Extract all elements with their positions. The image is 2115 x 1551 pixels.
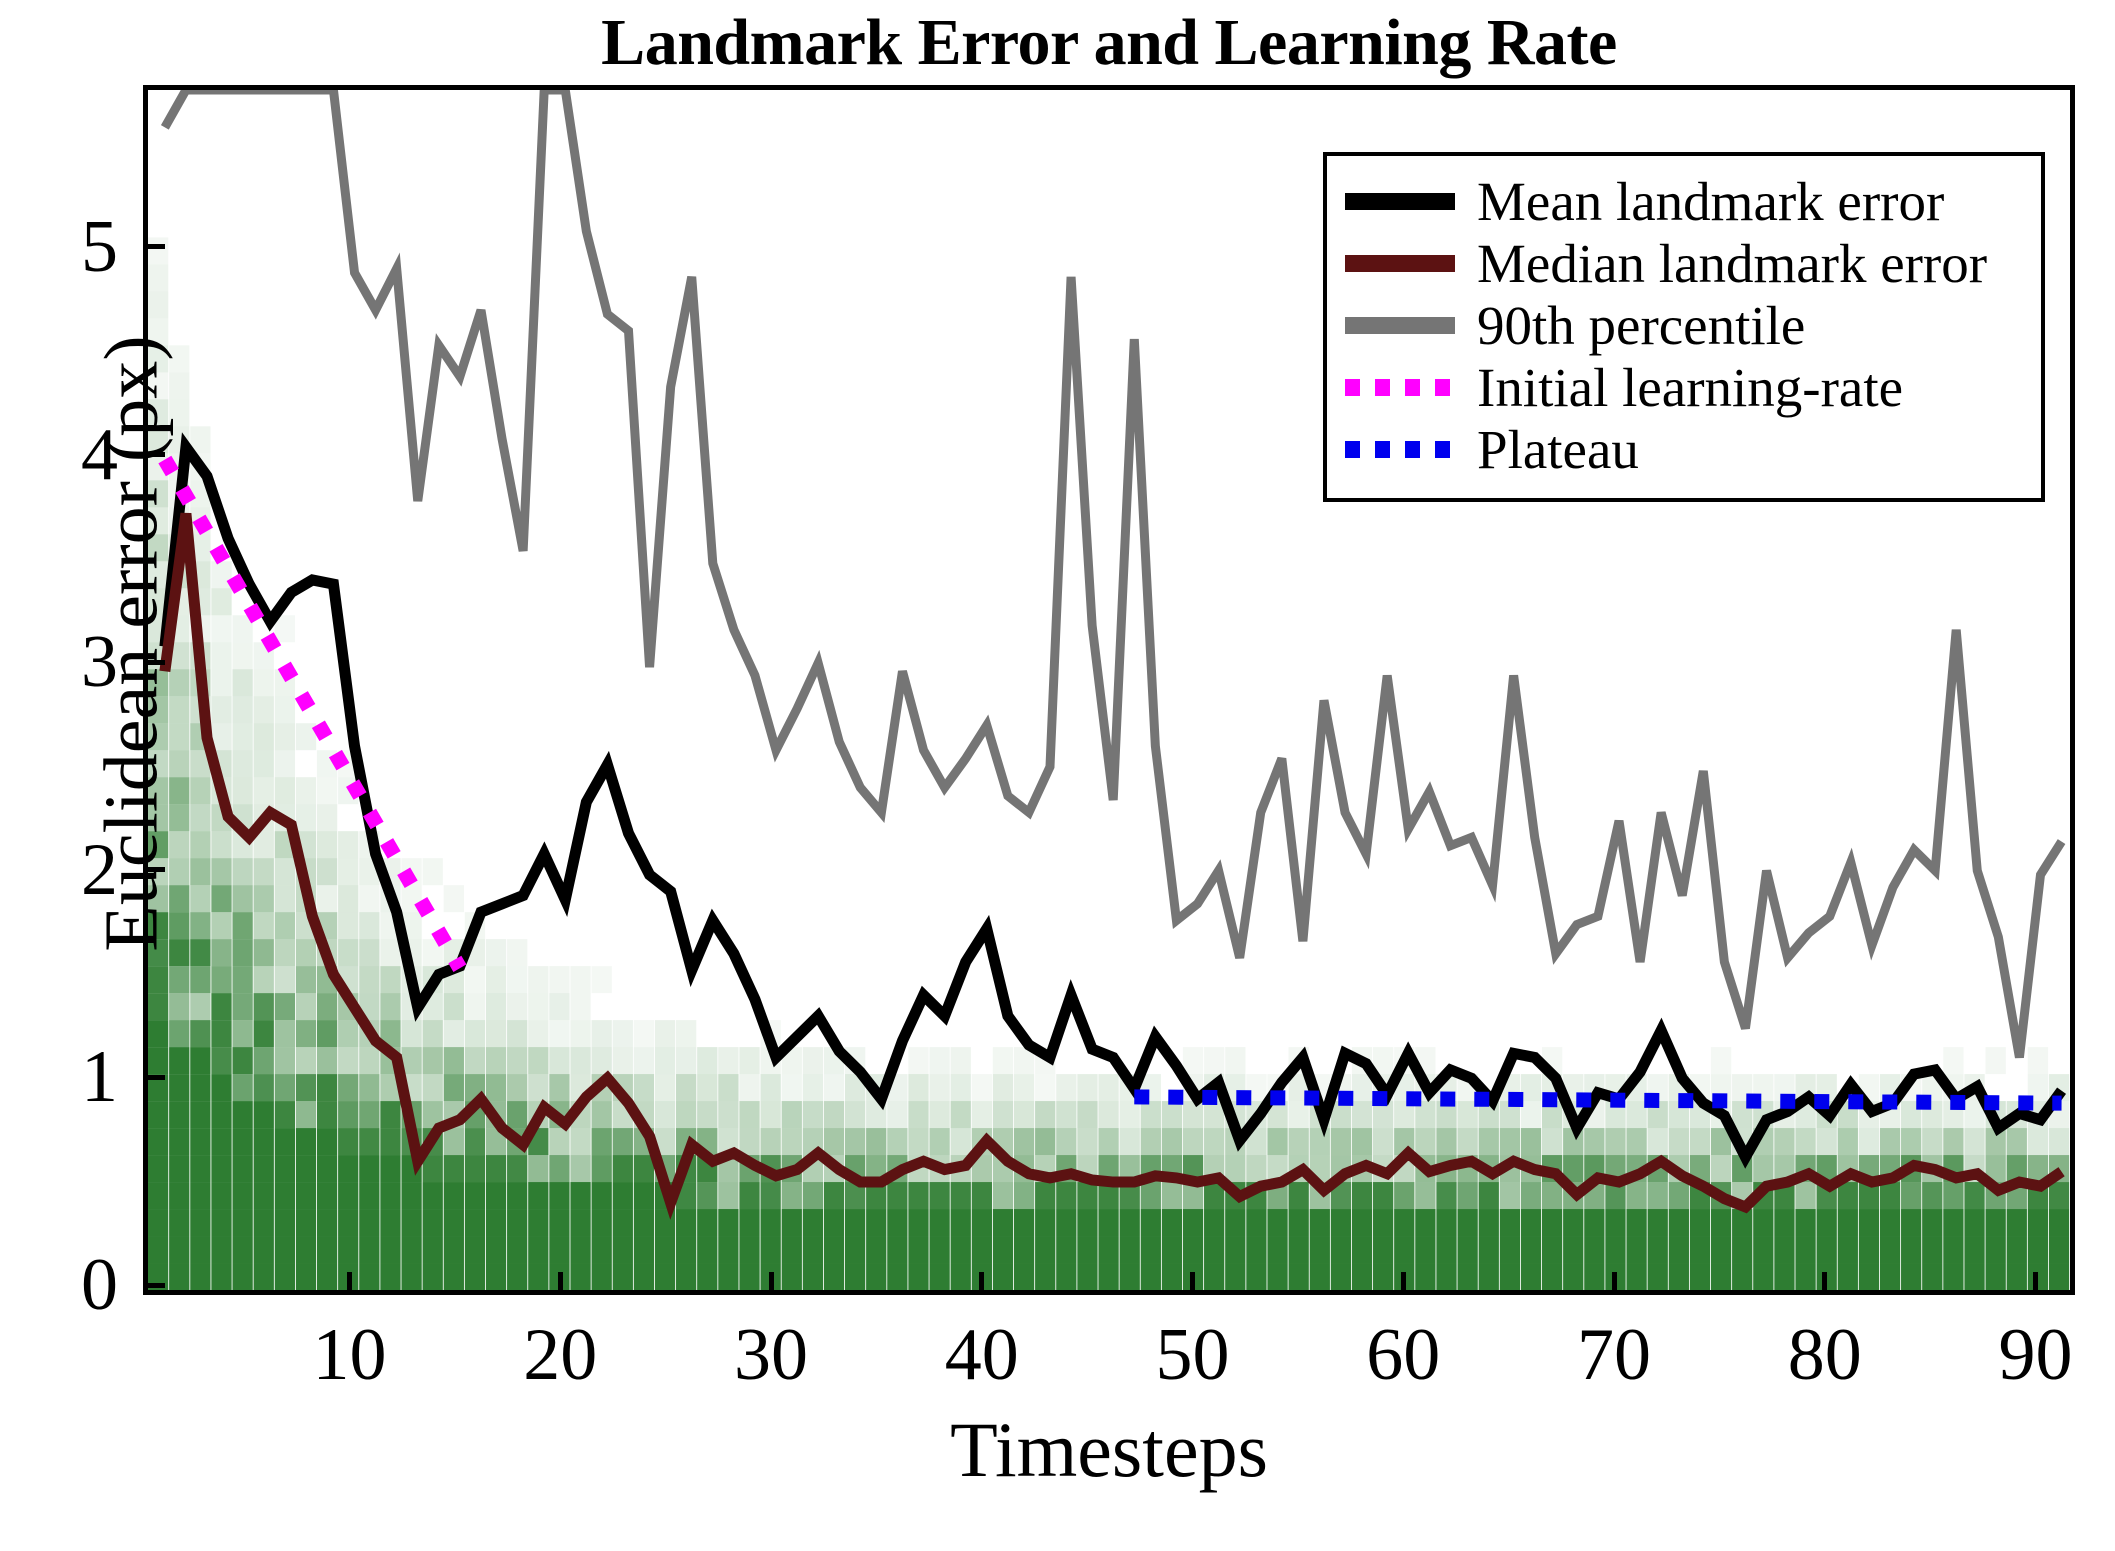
x-tick-mark: [1190, 1272, 1195, 1295]
x-tick-label: 10: [313, 1318, 387, 1392]
density-cell: [613, 1182, 633, 1209]
density-cell: [190, 966, 210, 993]
legend-item[interactable]: Plateau: [1327, 418, 2041, 480]
x-tick-mark: [1401, 1272, 1406, 1295]
x-tick-label: 90: [1998, 1318, 2072, 1392]
density-cell: [211, 1209, 231, 1236]
density-cell: [401, 1182, 421, 1209]
density-cell: [1415, 1128, 1435, 1155]
density-cell: [507, 966, 527, 993]
density-cell: [1077, 1182, 1097, 1209]
density-cell: [1500, 1128, 1520, 1155]
density-cell: [275, 750, 295, 777]
density-cell: [190, 993, 210, 1020]
density-cell: [1605, 1236, 1625, 1263]
density-cell: [1246, 1236, 1266, 1263]
density-cell: [993, 1263, 1013, 1290]
density-cell: [824, 1263, 844, 1290]
density-cell: [1204, 1047, 1224, 1074]
density-cell: [1077, 1101, 1097, 1128]
density-cell: [1732, 1263, 1752, 1290]
density-cell: [908, 1263, 928, 1290]
legend-label: Plateau: [1477, 422, 1639, 477]
density-cell: [380, 1182, 400, 1209]
density-cell: [951, 1263, 971, 1290]
density-cell: [296, 939, 316, 966]
density-cell: [782, 1263, 802, 1290]
density-cell: [1795, 1236, 1815, 1263]
density-cell: [359, 1101, 379, 1128]
density-cell: [423, 1020, 443, 1047]
density-cell: [1246, 1263, 1266, 1290]
density-cell: [232, 1101, 252, 1128]
density-cell: [296, 1074, 316, 1101]
density-cell: [697, 1074, 717, 1101]
density-cell: [993, 1074, 1013, 1101]
density-cell: [254, 723, 274, 750]
density-cell: [613, 1128, 633, 1155]
density-cell: [317, 1236, 337, 1263]
density-cell: [1626, 1209, 1646, 1236]
density-cell: [401, 1020, 421, 1047]
density-cell: [929, 1236, 949, 1263]
density-cell: [338, 858, 358, 885]
density-cell: [507, 1182, 527, 1209]
density-cell: [296, 1047, 316, 1074]
density-cell: [634, 1074, 654, 1101]
density-cell: [718, 1209, 738, 1236]
density-cell: [1774, 1209, 1794, 1236]
density-cell: [359, 1047, 379, 1074]
density-cell: [486, 1263, 506, 1290]
density-cell: [1542, 1263, 1562, 1290]
density-cell: [803, 1047, 823, 1074]
density-cell: [803, 1074, 823, 1101]
density-cell: [1648, 1263, 1668, 1290]
density-cell: [782, 1128, 802, 1155]
density-cell: [232, 993, 252, 1020]
density-cell: [254, 777, 274, 804]
density-cell: [465, 1020, 485, 1047]
density-cell: [908, 1236, 928, 1263]
density-cell: [761, 1101, 781, 1128]
density-cell: [444, 1074, 464, 1101]
density-cell: [380, 1101, 400, 1128]
density-cell: [232, 642, 252, 669]
density-cell: [528, 1209, 548, 1236]
density-cell: [1838, 1128, 1858, 1155]
density-cell: [2049, 1209, 2069, 1236]
density-cell: [634, 1182, 654, 1209]
density-cell: [1500, 1263, 1520, 1290]
density-cell: [211, 642, 231, 669]
density-cell: [1098, 1236, 1118, 1263]
legend-item[interactable]: Mean landmark error: [1327, 170, 2041, 232]
density-cell: [169, 1128, 189, 1155]
density-cell: [1626, 1263, 1646, 1290]
density-cell: [1014, 1182, 1034, 1209]
density-cell: [338, 1101, 358, 1128]
density-cell: [465, 1209, 485, 1236]
density-cell: [1077, 1209, 1097, 1236]
density-cell: [254, 1101, 274, 1128]
density-cell: [444, 1155, 464, 1182]
density-cell: [972, 1182, 992, 1209]
density-cell: [1964, 1263, 1984, 1290]
density-cell: [1267, 1263, 1287, 1290]
density-cell: [275, 1101, 295, 1128]
density-cell: [211, 939, 231, 966]
density-cell: [1626, 1101, 1646, 1128]
density-cell: [972, 1074, 992, 1101]
density-cell: [528, 1020, 548, 1047]
density-cell: [1479, 1263, 1499, 1290]
x-tick-label: 70: [1577, 1318, 1651, 1392]
density-cell: [1690, 1263, 1710, 1290]
density-cell: [676, 1236, 696, 1263]
density-cell: [803, 1182, 823, 1209]
density-cell: [549, 1128, 569, 1155]
density-cell: [1457, 1182, 1477, 1209]
density-cell: [444, 1128, 464, 1155]
density-cell: [317, 1047, 337, 1074]
density-cell: [1774, 1128, 1794, 1155]
density-cell: [1183, 1047, 1203, 1074]
density-cell: [1183, 1101, 1203, 1128]
density-cell: [697, 1182, 717, 1209]
legend-label: Median landmark error: [1477, 236, 1987, 291]
density-cell: [1035, 1074, 1055, 1101]
density-cell: [254, 858, 274, 885]
density-cell: [1141, 1128, 1161, 1155]
density-cell: [211, 696, 231, 723]
density-cell: [254, 1047, 274, 1074]
density-cell: [317, 1209, 337, 1236]
x-tick-label: 20: [523, 1318, 597, 1392]
density-cell: [1014, 1074, 1034, 1101]
density-cell: [423, 1182, 443, 1209]
density-cell: [338, 1155, 358, 1182]
density-cell: [1162, 1209, 1182, 1236]
density-cell: [2007, 1128, 2027, 1155]
density-cell: [528, 1182, 548, 1209]
density-cell: [1077, 1074, 1097, 1101]
density-cell: [486, 1209, 506, 1236]
density-cell: [592, 1155, 612, 1182]
density-cell: [232, 669, 252, 696]
density-cell: [549, 1209, 569, 1236]
density-cell: [254, 966, 274, 993]
density-cell: [1331, 1209, 1351, 1236]
density-cell: [676, 1047, 696, 1074]
density-cell: [1964, 1236, 1984, 1263]
density-cell: [1457, 1263, 1477, 1290]
density-cell: [296, 1209, 316, 1236]
density-cell: [655, 1236, 675, 1263]
density-cell: [1880, 1182, 1900, 1209]
density-cell: [275, 912, 295, 939]
density-cell: [655, 1020, 675, 1047]
density-cell: [1584, 1209, 1604, 1236]
density-cell: [1479, 1128, 1499, 1155]
density-cell: [951, 1128, 971, 1155]
density-cell: [275, 1209, 295, 1236]
density-cell: [317, 1101, 337, 1128]
density-cell: [275, 723, 295, 750]
density-cell: [1352, 1209, 1372, 1236]
legend-label: Mean landmark error: [1477, 174, 1944, 229]
density-cell: [824, 1074, 844, 1101]
density-cell: [169, 1236, 189, 1263]
density-cell: [1120, 1209, 1140, 1236]
density-cell: [718, 1047, 738, 1074]
density-cell: [1711, 1047, 1731, 1074]
density-cell: [296, 723, 316, 750]
density-cell: [866, 1236, 886, 1263]
density-cell: [317, 1155, 337, 1182]
density-cell: [190, 912, 210, 939]
density-cell: [507, 1209, 527, 1236]
legend-item[interactable]: Median landmark error: [1327, 232, 2041, 294]
density-cell: [232, 1263, 252, 1290]
density-cell: [190, 885, 210, 912]
density-cell: [634, 1020, 654, 1047]
density-cell: [528, 1263, 548, 1290]
density-cell: [1986, 1209, 2006, 1236]
x-tick-label: 50: [1156, 1318, 1230, 1392]
density-cell: [359, 912, 379, 939]
density-cell: [676, 1074, 696, 1101]
density-cell: [1542, 1128, 1562, 1155]
density-cell: [275, 1263, 295, 1290]
density-cell: [1162, 1128, 1182, 1155]
density-cell: [845, 1263, 865, 1290]
density-cell: [655, 1047, 675, 1074]
density-cell: [1246, 1155, 1266, 1182]
density-cell: [1648, 1182, 1668, 1209]
density-cell: [1922, 1263, 1942, 1290]
x-tick-label: 40: [945, 1318, 1019, 1392]
density-cell: [465, 1182, 485, 1209]
density-cell: [1141, 1101, 1161, 1128]
density-cell: [1690, 1236, 1710, 1263]
density-cell: [676, 1020, 696, 1047]
density-cell: [296, 993, 316, 1020]
density-cell: [1056, 1209, 1076, 1236]
density-cell: [908, 1047, 928, 1074]
density-cell: [1880, 1209, 1900, 1236]
legend-item[interactable]: 90th percentile: [1327, 294, 2041, 356]
density-cell: [275, 993, 295, 1020]
density-cell: [1964, 1182, 1984, 1209]
density-cell: [993, 1236, 1013, 1263]
density-cell: [1584, 1263, 1604, 1290]
density-cell: [951, 1101, 971, 1128]
density-cell: [1204, 1263, 1224, 1290]
density-cell: [1732, 1236, 1752, 1263]
density-cell: [148, 1209, 168, 1236]
density-cell: [275, 1074, 295, 1101]
x-tick-mark: [1822, 1272, 1827, 1295]
density-cell: [1373, 1128, 1393, 1155]
density-cell: [570, 1263, 590, 1290]
density-cell: [1838, 1236, 1858, 1263]
density-cell: [549, 1155, 569, 1182]
density-cell: [296, 1182, 316, 1209]
density-cell: [929, 1128, 949, 1155]
density-cell: [1225, 1155, 1245, 1182]
density-cell: [761, 1209, 781, 1236]
density-cell: [1141, 1182, 1161, 1209]
density-cell: [1901, 1236, 1921, 1263]
density-cell: [486, 1182, 506, 1209]
density-cell: [1141, 1263, 1161, 1290]
density-cell: [1500, 1236, 1520, 1263]
density-cell: [359, 1263, 379, 1290]
density-cell: [317, 1263, 337, 1290]
density-cell: [296, 804, 316, 831]
density-cell: [507, 1074, 527, 1101]
density-cell: [211, 831, 231, 858]
legend-item[interactable]: Initial learning-rate: [1327, 356, 2041, 418]
density-cell: [528, 993, 548, 1020]
density-cell: [275, 858, 295, 885]
density-cell: [1584, 1236, 1604, 1263]
density-cell: [739, 1263, 759, 1290]
density-cell: [613, 1020, 633, 1047]
density-cell: [993, 1209, 1013, 1236]
density-cell: [211, 1155, 231, 1182]
density-cell: [232, 750, 252, 777]
density-cell: [1014, 1101, 1034, 1128]
density-cell: [296, 1155, 316, 1182]
density-cell: [761, 1128, 781, 1155]
density-cell: [1120, 1263, 1140, 1290]
density-cell: [1563, 1209, 1583, 1236]
density-cell: [1415, 1182, 1435, 1209]
density-cell: [338, 939, 358, 966]
density-cell: [739, 1236, 759, 1263]
density-cell: [676, 1263, 696, 1290]
density-cell: [190, 1263, 210, 1290]
density-cell: [1605, 1128, 1625, 1155]
density-cell: [359, 1074, 379, 1101]
density-cell: [232, 1209, 252, 1236]
x-tick-mark: [2033, 1272, 2038, 1295]
density-cell: [169, 1182, 189, 1209]
density-cell: [929, 1182, 949, 1209]
density-cell: [1584, 1128, 1604, 1155]
density-cell: [549, 1074, 569, 1101]
density-cell: [444, 1263, 464, 1290]
density-cell: [1817, 1128, 1837, 1155]
density-cell: [338, 912, 358, 939]
density-cell: [1521, 1101, 1541, 1128]
density-cell: [1922, 1128, 1942, 1155]
density-cell: [1162, 1101, 1182, 1128]
density-cell: [634, 1236, 654, 1263]
density-cell: [929, 1209, 949, 1236]
x-axis-title: Timesteps: [143, 1405, 2075, 1495]
density-cell: [1014, 1209, 1034, 1236]
density-cell: [169, 1101, 189, 1128]
density-cell: [1859, 1209, 1879, 1236]
density-cell: [1795, 1263, 1815, 1290]
density-cell: [570, 1182, 590, 1209]
density-cell: [275, 1155, 295, 1182]
density-cell: [232, 885, 252, 912]
density-cell: [1521, 1074, 1541, 1101]
density-cell: [211, 1182, 231, 1209]
density-cell: [1394, 1209, 1414, 1236]
density-cell: [211, 1101, 231, 1128]
density-cell: [211, 1128, 231, 1155]
density-cell: [232, 1047, 252, 1074]
density-cell: [1880, 1263, 1900, 1290]
density-cell: [211, 966, 231, 993]
density-cell: [1669, 1209, 1689, 1236]
density-cell: [845, 1128, 865, 1155]
density-cell: [549, 1020, 569, 1047]
density-cell: [254, 939, 274, 966]
density-cell: [444, 993, 464, 1020]
density-cell: [1225, 1263, 1245, 1290]
y-tick-label: 0: [30, 1248, 118, 1322]
x-tick-mark: [1612, 1272, 1617, 1295]
density-cell: [190, 777, 210, 804]
density-cell: [824, 1101, 844, 1128]
density-cell: [570, 1020, 590, 1047]
density-cell: [317, 858, 337, 885]
density-cell: [1774, 1236, 1794, 1263]
density-cell: [1162, 1236, 1182, 1263]
density-cell: [507, 993, 527, 1020]
density-cell: [845, 1101, 865, 1128]
density-cell: [1289, 1128, 1309, 1155]
density-cell: [1901, 1209, 1921, 1236]
density-cell: [972, 1101, 992, 1128]
x-tick-label: 60: [1366, 1318, 1440, 1392]
density-cell: [465, 1128, 485, 1155]
density-cell: [676, 1209, 696, 1236]
density-cell: [1711, 1155, 1731, 1182]
density-cell: [338, 1128, 358, 1155]
density-cell: [951, 1209, 971, 1236]
density-cell: [486, 939, 506, 966]
density-cell: [1795, 1128, 1815, 1155]
density-cell: [1352, 1263, 1372, 1290]
x-tick-mark: [769, 1272, 774, 1295]
density-cell: [211, 1236, 231, 1263]
density-cell: [169, 1209, 189, 1236]
density-cell: [317, 804, 337, 831]
density-cell: [1648, 1209, 1668, 1236]
density-cell: [296, 1101, 316, 1128]
density-cell: [1964, 1128, 1984, 1155]
density-cell: [929, 1101, 949, 1128]
density-cell: [1035, 1263, 1055, 1290]
density-cell: [1901, 1128, 1921, 1155]
density-cell: [465, 1047, 485, 1074]
density-cell: [1394, 1236, 1414, 1263]
density-cell: [275, 939, 295, 966]
density-cell: [2028, 1047, 2048, 1074]
density-cell: [1859, 1263, 1879, 1290]
density-cell: [887, 1209, 907, 1236]
density-cell: [1098, 1209, 1118, 1236]
density-cell: [1795, 1182, 1815, 1209]
density-cell: [761, 1236, 781, 1263]
